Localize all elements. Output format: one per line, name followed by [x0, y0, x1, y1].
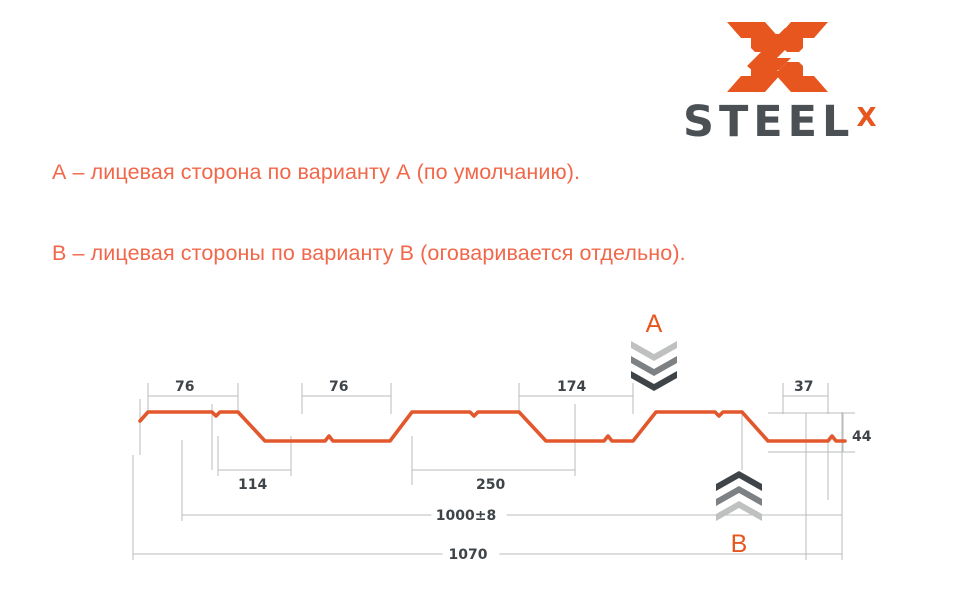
dimension-label-total-width: 1070 [449, 547, 488, 563]
profile-outline-path [140, 412, 845, 441]
face-marker-a-letter: A [646, 310, 663, 338]
dimension-pitch-250: 250 [412, 464, 575, 493]
face-marker-b-letter: B [731, 530, 748, 558]
dimension-top-flange-left: 76 [148, 379, 238, 402]
dimension-end-flange-37: 37 [783, 379, 828, 402]
dimension-label-top-flange-middle: 76 [329, 379, 348, 395]
dimension-layer: 7676174371142501000±8107044 [133, 379, 872, 563]
dimension-label-end-flange-37: 37 [794, 379, 813, 395]
profile-outline [140, 412, 845, 441]
dimension-label-pitch-174: 174 [557, 379, 586, 395]
dimension-label-useful-width: 1000±8 [436, 508, 496, 524]
dimension-label-pitch-250: 250 [476, 477, 505, 493]
dimension-label-top-flange-left: 76 [175, 379, 194, 395]
dimension-useful-width: 1000±8 [182, 508, 842, 524]
face-marker-a: A [631, 310, 677, 391]
dimension-valley-114: 114 [218, 464, 291, 493]
dimension-label-profile-height: 44 [852, 429, 872, 445]
chevron-1 [716, 501, 762, 521]
dimension-label-valley-114: 114 [238, 477, 267, 493]
chevron-1 [631, 341, 677, 361]
dimension-profile-height: 44 [838, 413, 872, 452]
dimension-top-flange-middle: 76 [302, 379, 391, 402]
dimension-pitch-174: 174 [519, 379, 633, 402]
profile-technical-drawing: 7676174371142501000±8107044 AB [0, 0, 970, 597]
